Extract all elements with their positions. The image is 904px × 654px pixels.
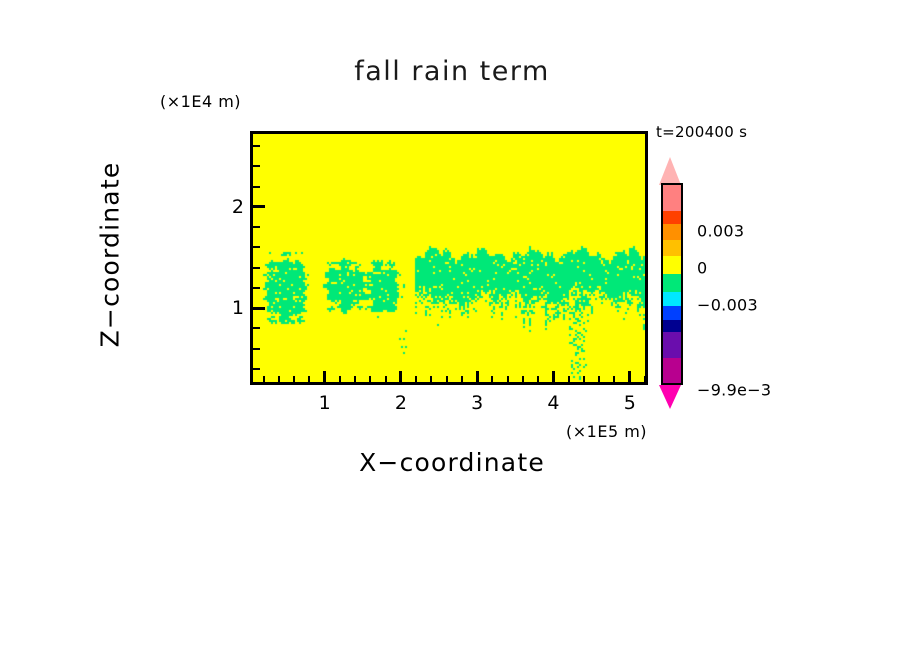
colorbar-labels: 0.0030−0.003−9.9e−3 (0, 0, 904, 654)
colorbar-tick-label: 0 (697, 259, 707, 278)
colorbar-tick-label: −0.003 (697, 296, 758, 315)
colorbar-tick-label: 0.003 (697, 222, 744, 241)
colorbar-tick-label: −9.9e−3 (697, 381, 771, 400)
